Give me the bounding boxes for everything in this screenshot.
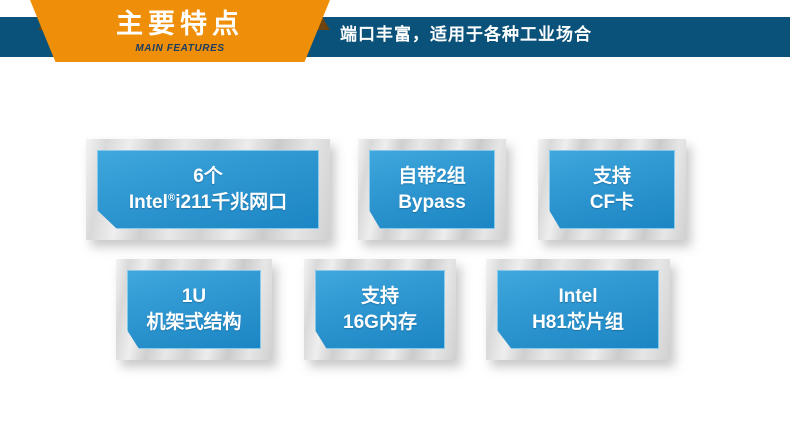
feature-line-secondary: Intel®i211千兆网口 xyxy=(129,190,287,215)
feature-text-pre: Intel xyxy=(129,192,168,213)
feature-line-primary: 6个 xyxy=(193,164,223,189)
feature-line-primary: 自带2组 xyxy=(398,164,466,189)
feature-card: 支持 CF卡 xyxy=(538,139,686,240)
page-header: 主要特点 MAIN FEATURES 端口丰富，适用于各种工业场合 xyxy=(0,0,790,72)
feature-card-body: Intel H81芯片组 xyxy=(497,270,659,349)
feature-line-secondary: H81芯片组 xyxy=(532,310,624,335)
feature-card: 自带2组 Bypass xyxy=(358,139,506,240)
page-title: 主要特点 xyxy=(30,8,330,40)
feature-card: 6个 Intel®i211千兆网口 xyxy=(86,139,330,240)
feature-line-primary: 支持 xyxy=(361,284,399,309)
feature-line-primary: Intel xyxy=(558,284,597,309)
feature-line-primary: 1U xyxy=(182,284,206,309)
feature-text-pre: CF卡 xyxy=(590,192,634,213)
feature-line-secondary: CF卡 xyxy=(590,190,634,215)
feature-text-pre: Bypass xyxy=(398,192,466,213)
feature-line-secondary: Bypass xyxy=(398,190,466,215)
feature-card-body: 支持 16G内存 xyxy=(315,270,445,349)
feature-card-body: 自带2组 Bypass xyxy=(369,150,495,229)
feature-card-body: 1U 机架式结构 xyxy=(127,270,261,349)
feature-line-secondary: 机架式结构 xyxy=(146,310,241,335)
feature-grid: 6个 Intel®i211千兆网口 自带2组 Bypass 支持 CF卡 1U … xyxy=(0,118,790,378)
feature-text-pre: 机架式结构 xyxy=(146,312,241,333)
feature-card-body: 6个 Intel®i211千兆网口 xyxy=(97,150,319,229)
page-subtitle-english: MAIN FEATURES xyxy=(30,43,330,55)
feature-line-secondary: 16G内存 xyxy=(343,310,417,335)
feature-card-body: 支持 CF卡 xyxy=(549,150,675,229)
feature-text-post: i211千兆网口 xyxy=(175,192,287,213)
feature-card: 支持 16G内存 xyxy=(304,259,456,360)
header-tagline: 端口丰富，适用于各种工业场合 xyxy=(340,24,592,46)
feature-card: Intel H81芯片组 xyxy=(486,259,670,360)
feature-text-pre: 16G内存 xyxy=(343,312,417,333)
feature-line-primary: 支持 xyxy=(593,164,631,189)
feature-card: 1U 机架式结构 xyxy=(116,259,272,360)
feature-text-pre: H81芯片组 xyxy=(532,312,624,333)
